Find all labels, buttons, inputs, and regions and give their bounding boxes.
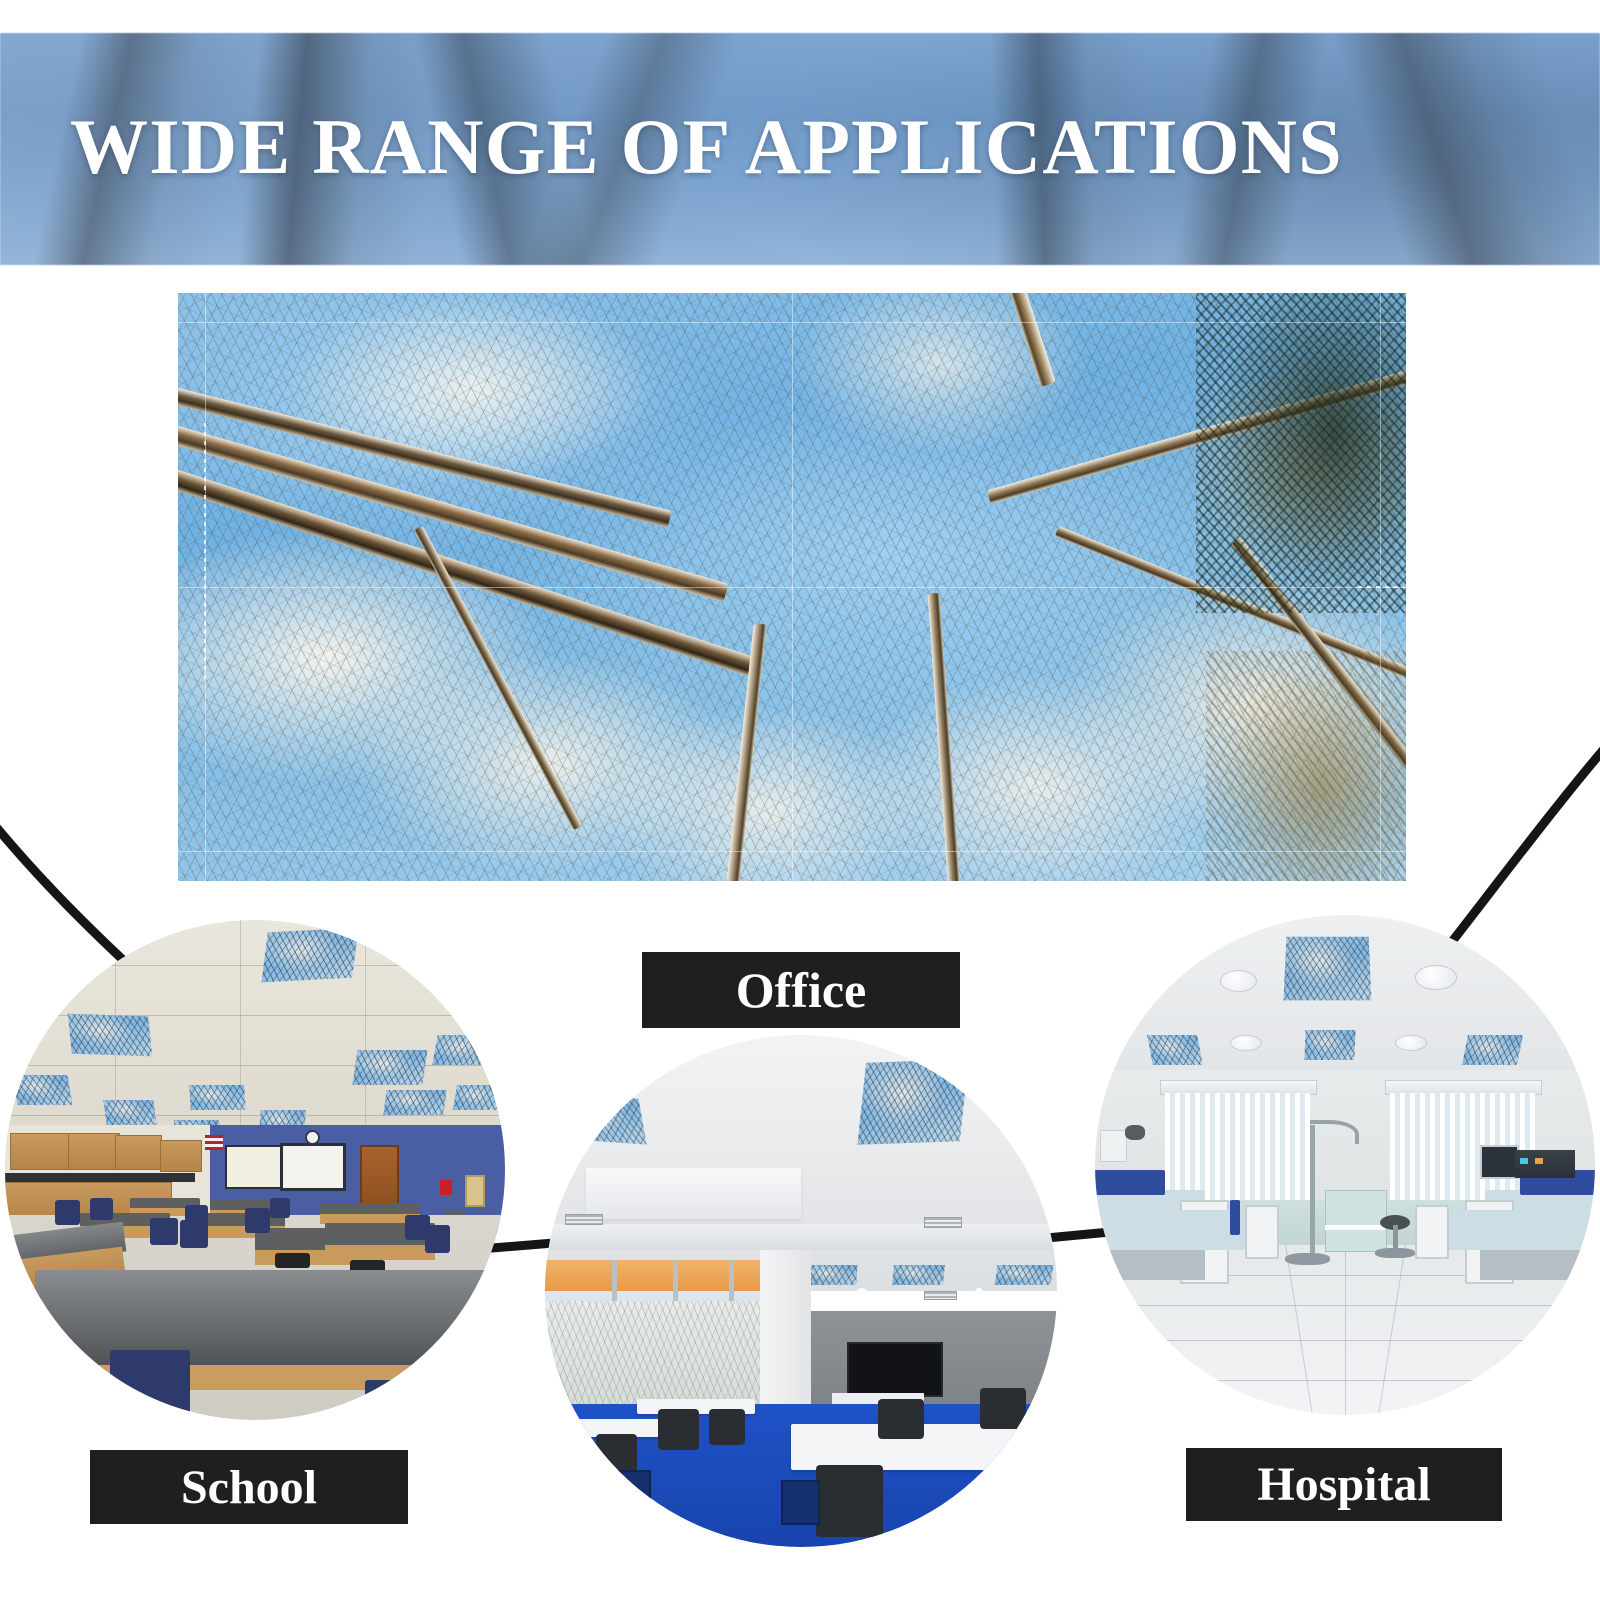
equipment-led xyxy=(1520,1158,1528,1164)
lab-stool xyxy=(275,1253,310,1268)
window-trees xyxy=(545,1301,760,1403)
examination-lamp-post xyxy=(1310,1125,1315,1255)
classroom-door xyxy=(360,1145,399,1209)
fire-extinguisher-cabinet xyxy=(465,1175,485,1207)
ceiling-beam xyxy=(545,1224,1057,1250)
office-chair xyxy=(596,1434,637,1475)
wall-mounted-device xyxy=(1125,1125,1145,1140)
ceiling-grid-line xyxy=(5,1065,505,1066)
bed-frame xyxy=(1095,1250,1205,1280)
bed-frame xyxy=(1480,1250,1595,1280)
ceiling-grid-line xyxy=(365,920,366,1155)
wall-cabinet xyxy=(160,1140,202,1172)
ceiling-grid-line xyxy=(5,1115,505,1116)
wall-cabinet xyxy=(10,1133,72,1170)
window-blind xyxy=(545,1260,760,1291)
page-title: WIDE RANGE OF APPLICATIONS xyxy=(70,108,1343,186)
sky-ceiling-panel xyxy=(858,1059,969,1144)
fire-alarm xyxy=(440,1180,452,1195)
sky-ceiling-panel xyxy=(432,1035,497,1065)
wall-medical-gas-panel xyxy=(1100,1130,1127,1162)
caption-office: Office xyxy=(642,952,960,1028)
caption-office-label: Office xyxy=(736,961,866,1019)
lab-counter xyxy=(5,1173,195,1182)
student-chair xyxy=(55,1200,80,1225)
student-chair xyxy=(425,1225,450,1253)
waste-bin xyxy=(781,1480,821,1525)
ceiling-air-vent xyxy=(565,1214,603,1225)
office-chair xyxy=(658,1409,699,1450)
sky-ceiling-panel xyxy=(353,1050,428,1085)
foreground-chair xyxy=(110,1350,190,1420)
sky-ceiling-panel xyxy=(994,1265,1053,1285)
sky-ceiling-panel xyxy=(453,1085,505,1110)
sky-ceiling-panel xyxy=(12,1075,72,1105)
foreground-lab-table xyxy=(35,1270,495,1370)
application-circle-school[interactable] xyxy=(5,920,505,1420)
office-chair xyxy=(709,1409,745,1445)
sky-ceiling-panel xyxy=(561,1094,647,1145)
patient-monitor xyxy=(1480,1145,1519,1179)
office-chair xyxy=(816,1465,883,1537)
sky-ceiling-panel xyxy=(1462,1035,1523,1065)
bed-footboard xyxy=(1245,1205,1279,1259)
sky-ceiling-panel xyxy=(103,1100,157,1125)
smartboard xyxy=(280,1143,346,1192)
hero-sky-panel-image xyxy=(178,293,1406,881)
student-chair xyxy=(90,1198,113,1221)
panel-division-grid xyxy=(178,293,1406,881)
us-flag xyxy=(205,1135,223,1150)
stool-base xyxy=(1375,1248,1415,1258)
wall-cabinet xyxy=(115,1135,162,1170)
ceiling-grid-line xyxy=(240,920,241,1155)
vertical-blinds xyxy=(1165,1093,1310,1203)
downlight xyxy=(857,1288,865,1294)
instrument-cart xyxy=(1325,1190,1387,1252)
caption-hospital: Hospital xyxy=(1186,1448,1502,1521)
hospital-bed xyxy=(1445,1210,1555,1250)
sky-ceiling-panel xyxy=(189,1085,246,1110)
ceiling-air-vent xyxy=(924,1291,957,1300)
office-chair xyxy=(878,1399,924,1440)
office-chair xyxy=(980,1388,1026,1429)
ceiling-dome-light xyxy=(1220,970,1257,992)
equipment-led xyxy=(1535,1158,1543,1164)
student-chair xyxy=(270,1198,290,1218)
wall-mounted-display xyxy=(847,1342,943,1397)
sky-ceiling-panel xyxy=(1304,1030,1355,1060)
downlight xyxy=(975,1288,983,1294)
application-circle-office[interactable] xyxy=(545,1035,1057,1547)
sky-ceiling-panel xyxy=(383,1090,446,1115)
ceiling-dome-light xyxy=(1415,965,1457,990)
sky-ceiling-panel xyxy=(892,1265,945,1285)
stool-post xyxy=(1393,1225,1398,1250)
ceiling-dome-light xyxy=(1230,1035,1262,1051)
ceiling-soffit xyxy=(586,1168,801,1219)
sky-ceiling-panel xyxy=(806,1265,858,1285)
wall-cabinet xyxy=(68,1133,120,1170)
floor-tile-line xyxy=(1345,1245,1346,1415)
foreground-chair xyxy=(365,1380,435,1420)
table-apron xyxy=(325,1245,435,1260)
ceiling-dome-light xyxy=(1395,1035,1427,1051)
equipment-rack xyxy=(1515,1150,1575,1178)
hospital-bed xyxy=(1135,1210,1245,1250)
bed-side-rail xyxy=(1095,1170,1165,1195)
lamp-base xyxy=(1285,1253,1330,1266)
bed-side-rail xyxy=(1230,1200,1240,1235)
application-circle-hospital[interactable] xyxy=(1095,915,1595,1415)
caption-hospital-label: Hospital xyxy=(1257,1457,1430,1512)
ceiling-grid-line xyxy=(5,965,505,966)
student-chair xyxy=(245,1208,270,1233)
sky-ceiling-panel xyxy=(1284,937,1372,1001)
sky-ceiling-panel xyxy=(1147,1035,1203,1065)
caption-school: School xyxy=(90,1450,408,1524)
waste-bin xyxy=(617,1470,652,1505)
sky-ceiling-panel xyxy=(262,928,359,983)
sky-ceiling-panel xyxy=(68,1014,153,1057)
ceiling-air-vent xyxy=(924,1217,962,1228)
student-chair xyxy=(150,1218,178,1246)
caption-school-label: School xyxy=(181,1460,317,1515)
wall-clock xyxy=(305,1130,320,1145)
bed-footboard xyxy=(1415,1205,1449,1259)
student-chair xyxy=(185,1205,208,1228)
cart-shelf xyxy=(1325,1225,1385,1230)
